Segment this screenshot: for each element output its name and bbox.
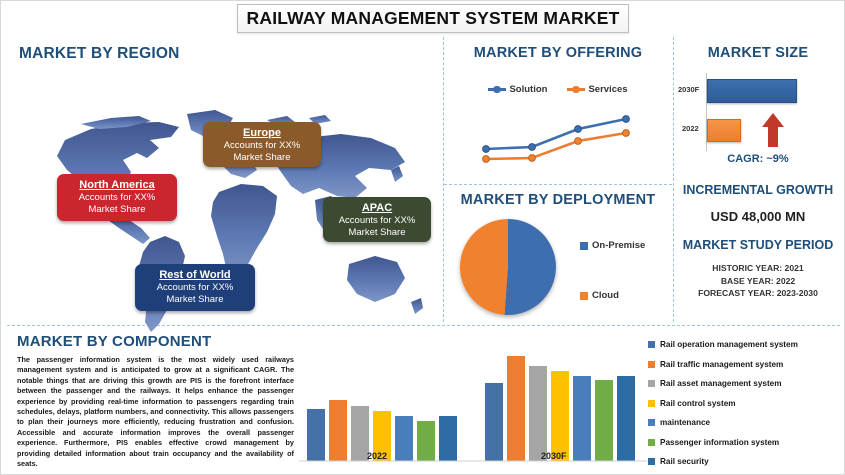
bar-2022 [707,119,741,142]
component-chart-svg [299,345,647,467]
legend-label: Rail control system [660,399,736,408]
market-by-component-section: MARKET BY COMPONENT The passenger inform… [7,327,840,473]
region-share-line2: Market Share [209,152,315,164]
legend-item-services[interactable]: Services [567,84,627,95]
legend-swatch [648,400,655,407]
section-heading-deployment: MARKET BY DEPLOYMENT [444,192,672,208]
legend-item-rail-operation[interactable]: Rail operation management system [648,335,840,355]
legend-item-rail-security[interactable]: Rail security [648,452,840,472]
infographic-page: RAILWAY MANAGEMENT SYSTEM MARKET MARKET … [0,0,845,475]
legend-label: maintenance [660,418,710,427]
bar-group-2030f [485,356,635,461]
legend-swatch [580,292,588,300]
legend-label: On-Premise [592,240,645,251]
market-by-region-section: MARKET BY REGION [5,34,442,324]
legend-line-services [567,88,585,91]
legend-swatch [648,439,655,446]
group-label-2022: 2022 [367,451,387,461]
region-box-rest-of-world[interactable]: Rest of World Accounts for XX% Market Sh… [135,264,255,311]
incremental-growth-value: USD 48,000 MN [674,209,842,224]
bar-2030f [707,79,797,103]
offering-legend: Solution Services [444,84,672,95]
region-share-line2: Market Share [63,204,171,216]
region-name: North America [63,178,171,192]
market-by-offering-section: MARKET BY OFFERING Solution Services [444,37,672,183]
group-label-2030f: 2030F [541,451,567,461]
market-study-period-heading: MARKET STUDY PERIOD [674,238,842,252]
category-label-2030f: 2030F [678,85,699,94]
region-box-north-america[interactable]: North America Accounts for XX% Market Sh… [57,174,177,221]
region-share-line1: Accounts for XX% [141,282,249,294]
legend-item-on-premise[interactable]: On-Premise [580,240,645,251]
offering-line-chart [444,99,672,183]
legend-item-cloud[interactable]: Cloud [580,290,619,301]
growth-arrow-icon [760,112,786,148]
region-name: APAC [329,201,425,215]
legend-label: Rail security [660,457,709,466]
cagr-label: CAGR: ~9% [674,153,842,165]
series-solution-markers [483,116,630,153]
legend-label: Rail operation management system [660,340,798,349]
base-year: BASE YEAR: 2022 [674,275,842,288]
divider-horizontal-middle [444,184,672,185]
legend-item-solution[interactable]: Solution [488,84,547,95]
legend-item-rail-traffic[interactable]: Rail traffic management system [648,355,840,375]
section-heading-component: MARKET BY COMPONENT [17,333,211,350]
legend-swatch [648,341,655,348]
legend-item-passenger-information[interactable]: Passenger information system [648,433,840,453]
region-share-line1: Accounts for XX% [329,215,425,227]
region-box-europe[interactable]: Europe Accounts for XX% Market Share [203,122,321,167]
deployment-pie-chart [460,219,556,315]
legend-label: Solution [509,84,547,95]
legend-label: Cloud [592,290,619,301]
component-paragraph: The passenger information system is the … [17,355,294,469]
series-solution-line [486,119,626,149]
legend-line-solution [488,88,506,91]
section-heading-market-size: MARKET SIZE [674,45,842,61]
legend-label: Rail traffic management system [660,360,783,369]
section-heading-region: MARKET BY REGION [19,45,180,63]
legend-swatch [648,419,655,426]
region-share-line1: Accounts for XX% [63,192,171,204]
legend-item-rail-asset[interactable]: Rail asset management system [648,374,840,394]
region-name: Rest of World [141,268,249,282]
market-size-section: MARKET SIZE 2030F 2022 CAGR: ~9% [674,37,842,182]
region-name: Europe [209,126,315,140]
legend-swatch [580,242,588,250]
page-title-text: RAILWAY MANAGEMENT SYSTEM MARKET [247,8,620,29]
historic-year: HISTORIC YEAR: 2021 [674,262,842,275]
offering-chart-svg [444,99,672,183]
incremental-growth-heading: INCREMENTAL GROWTH [674,183,842,197]
legend-label: Passenger information system [660,438,779,447]
component-legend: Rail operation management system Rail tr… [648,335,840,472]
region-share-line2: Market Share [329,227,425,239]
market-size-bar-chart: 2030F 2022 [674,69,842,151]
legend-item-maintenance[interactable]: maintenance [648,413,840,433]
page-title: RAILWAY MANAGEMENT SYSTEM MARKET [237,4,629,33]
region-box-apac[interactable]: APAC Accounts for XX% Market Share [323,197,431,242]
component-bar-chart: 2022 2030F [299,345,647,467]
market-by-deployment-section: MARKET BY DEPLOYMENT On-Premise Cloud [444,186,672,322]
legend-swatch [648,458,655,465]
forecast-year: FORECAST YEAR: 2023-2030 [674,287,842,300]
legend-swatch [648,380,655,387]
category-label-2022: 2022 [682,124,699,133]
legend-swatch [648,361,655,368]
legend-item-rail-control[interactable]: Rail control system [648,394,840,414]
market-info-section: INCREMENTAL GROWTH USD 48,000 MN MARKET … [674,183,842,323]
region-share-line2: Market Share [141,294,249,306]
legend-label: Rail asset management system [660,379,782,388]
section-heading-offering: MARKET BY OFFERING [444,45,672,61]
region-share-line1: Accounts for XX% [209,140,315,152]
legend-label: Services [588,84,627,95]
